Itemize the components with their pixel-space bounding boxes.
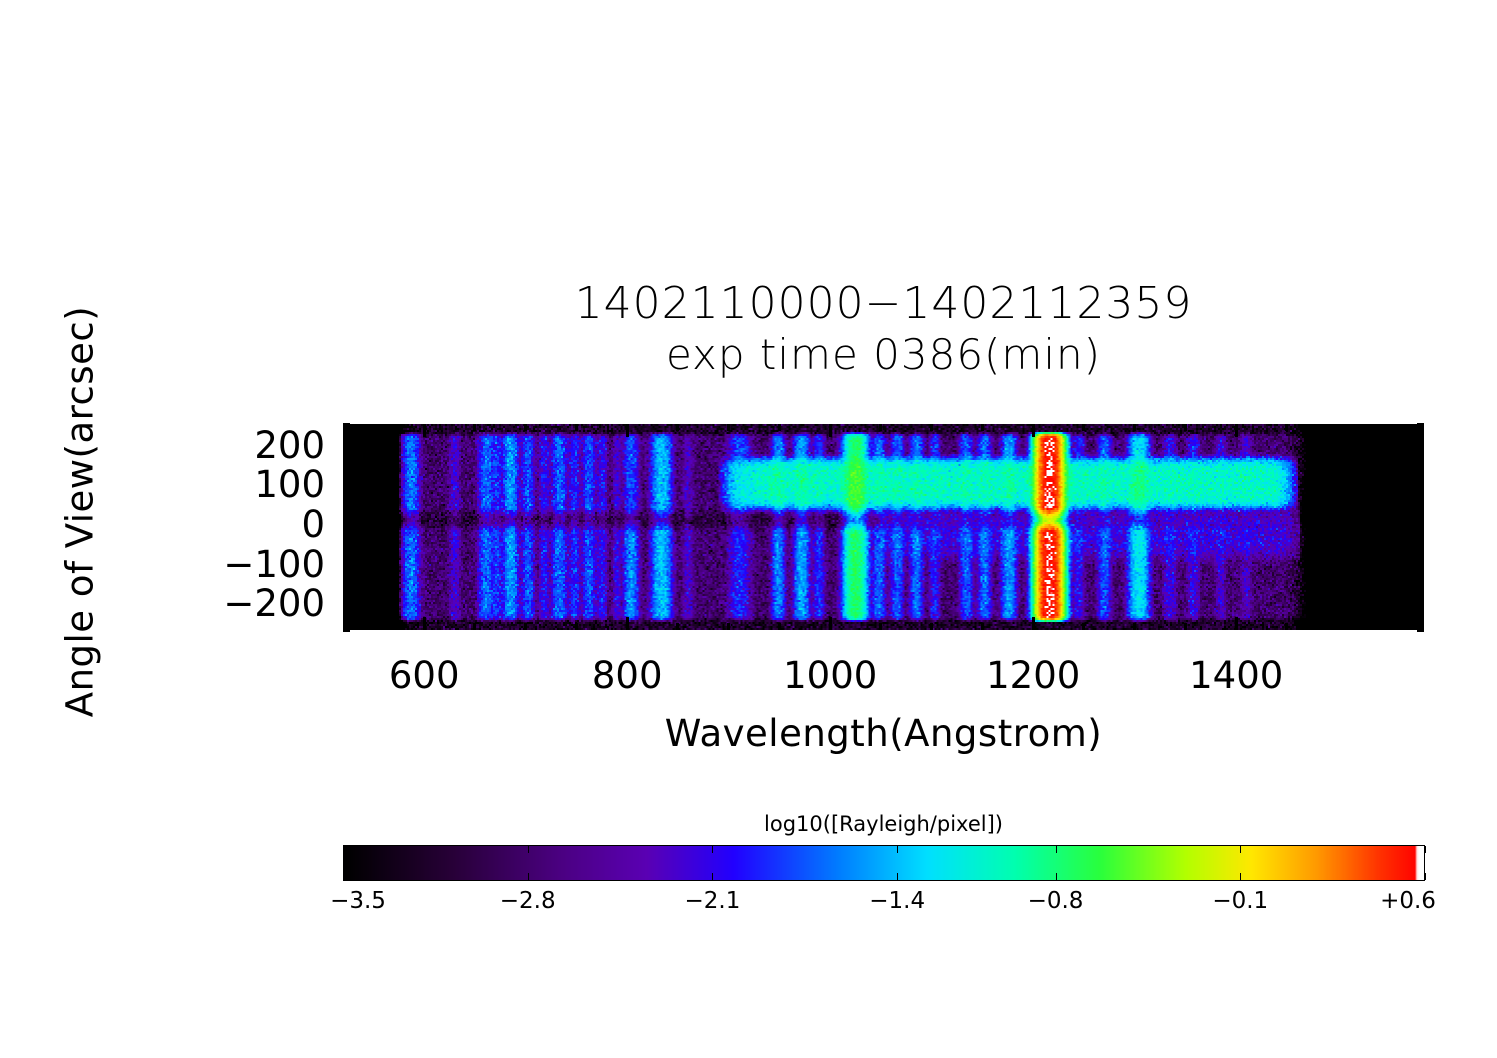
y-minor-tick-right — [1417, 597, 1424, 600]
x-minor-tick-top — [981, 424, 984, 431]
colorbar-tick — [1056, 846, 1057, 853]
x-minor-tick-top — [1336, 424, 1339, 431]
x-minor-tick-top — [575, 424, 578, 431]
spectrogram-image — [343, 424, 1424, 630]
colorbar-tick — [343, 873, 344, 880]
colorbar-tick — [1425, 846, 1426, 853]
x-tick-label: 600 — [344, 654, 504, 697]
y-minor-tick-right — [1417, 470, 1424, 473]
x-minor-tick — [1133, 623, 1136, 630]
x-tick-label: 1000 — [750, 654, 910, 697]
y-minor-tick — [343, 557, 350, 560]
y-minor-tick-right — [1417, 557, 1424, 560]
x-major-tick — [423, 617, 426, 630]
y-minor-tick-right — [1417, 613, 1424, 616]
y-minor-tick-right — [1417, 502, 1424, 505]
y-major-tick-right — [1411, 486, 1424, 489]
x-minor-tick — [1184, 623, 1187, 630]
y-major-tick — [343, 526, 356, 529]
colorbar-tick-label: −3.5 — [313, 888, 403, 914]
x-minor-tick — [372, 623, 375, 630]
y-minor-tick — [343, 438, 350, 441]
x-minor-tick-top — [930, 424, 933, 431]
x-minor-tick — [930, 623, 933, 630]
y-minor-tick-right — [1417, 621, 1424, 624]
colorbar-tick-label: −0.8 — [1011, 888, 1101, 914]
x-minor-tick-top — [1082, 424, 1085, 431]
x-tick-label: 1200 — [953, 654, 1113, 697]
x-minor-tick-top — [1184, 424, 1187, 431]
y-minor-tick-right — [1417, 454, 1424, 457]
colorbar-tick-label: −2.1 — [667, 888, 757, 914]
y-minor-tick — [343, 573, 350, 576]
x-minor-tick-top — [879, 424, 882, 431]
y-major-tick — [343, 565, 356, 568]
x-minor-tick — [524, 623, 527, 630]
colorbar-tick — [712, 873, 713, 880]
x-major-tick-top — [829, 424, 832, 437]
y-minor-tick — [343, 597, 350, 600]
figure-title: 1402110000−1402112359 exp time 0386(min) — [343, 278, 1424, 380]
x-major-tick-top — [1235, 424, 1238, 437]
y-major-tick — [343, 605, 356, 608]
y-minor-tick — [343, 478, 350, 481]
y-minor-tick — [343, 629, 350, 632]
y-minor-tick-right — [1417, 510, 1424, 513]
x-minor-tick — [1285, 623, 1288, 630]
x-tick-label: 800 — [547, 654, 707, 697]
colorbar-gradient — [344, 846, 1424, 880]
y-minor-tick — [343, 470, 350, 473]
y-minor-tick — [343, 510, 350, 513]
y-minor-tick — [343, 581, 350, 584]
x-major-tick-top — [626, 424, 629, 437]
x-minor-tick — [473, 623, 476, 630]
y-minor-tick — [343, 462, 350, 465]
colorbar-tick — [1056, 873, 1057, 880]
x-minor-tick — [676, 623, 679, 630]
x-minor-tick — [1387, 623, 1390, 630]
x-major-tick — [626, 617, 629, 630]
y-minor-tick-right — [1417, 462, 1424, 465]
figure-root: 1402110000−1402112359 exp time 0386(min)… — [0, 0, 1497, 1058]
y-minor-tick — [343, 613, 350, 616]
x-minor-tick — [727, 623, 730, 630]
colorbar-tick — [897, 873, 898, 880]
y-minor-tick — [343, 518, 350, 521]
y-major-tick — [343, 486, 356, 489]
title-exposure-time: exp time 0386(min) — [343, 330, 1424, 380]
colorbar-tick — [528, 846, 529, 853]
y-minor-tick-right — [1417, 549, 1424, 552]
x-minor-tick-top — [778, 424, 781, 431]
y-minor-tick — [343, 589, 350, 592]
x-minor-tick — [1082, 623, 1085, 630]
colorbar-tick — [528, 873, 529, 880]
x-major-tick — [829, 617, 832, 630]
y-tick-label: 100 — [195, 463, 325, 506]
y-major-tick-right — [1411, 446, 1424, 449]
x-minor-tick-top — [1285, 424, 1288, 431]
colorbar-tick — [712, 846, 713, 853]
y-tick-label: −200 — [195, 582, 325, 625]
colorbar-tick — [897, 846, 898, 853]
colorbar-tick-label: −2.8 — [483, 888, 573, 914]
x-minor-tick-top — [727, 424, 730, 431]
colorbar-title: log10([Rayleigh/pixel]) — [343, 812, 1424, 836]
x-minor-tick — [575, 623, 578, 630]
x-minor-tick — [879, 623, 882, 630]
y-minor-tick — [343, 541, 350, 544]
x-minor-tick-top — [1133, 424, 1136, 431]
x-major-tick — [1235, 617, 1238, 630]
x-minor-tick-top — [524, 424, 527, 431]
x-axis-title: Wavelength(Angstrom) — [343, 712, 1424, 755]
y-minor-tick — [343, 549, 350, 552]
colorbar-tick-label: −0.1 — [1195, 888, 1285, 914]
x-minor-tick — [1336, 623, 1339, 630]
y-major-tick — [343, 446, 356, 449]
x-minor-tick-top — [473, 424, 476, 431]
y-minor-tick — [343, 430, 350, 433]
y-minor-tick-right — [1417, 541, 1424, 544]
colorbar-tick-label: −1.4 — [852, 888, 942, 914]
colorbar-tick — [1240, 846, 1241, 853]
y-minor-tick-right — [1417, 533, 1424, 536]
y-major-tick-right — [1411, 565, 1424, 568]
x-major-tick — [1032, 617, 1035, 630]
x-minor-tick — [778, 623, 781, 630]
y-minor-tick — [343, 454, 350, 457]
y-minor-tick-right — [1417, 438, 1424, 441]
title-observation-id: 1402110000−1402112359 — [343, 278, 1424, 330]
y-tick-label: 200 — [195, 424, 325, 467]
y-minor-tick-right — [1417, 573, 1424, 576]
colorbar-tick — [1425, 873, 1426, 880]
x-minor-tick-top — [676, 424, 679, 431]
y-tick-label: −100 — [195, 543, 325, 586]
x-minor-tick-top — [372, 424, 375, 431]
y-minor-tick-right — [1417, 430, 1424, 433]
x-minor-tick-top — [1387, 424, 1390, 431]
colorbar-tick-label: +0.6 — [1363, 888, 1453, 914]
x-major-tick-top — [423, 424, 426, 437]
y-axis-title: Angle of View(arcsec) — [59, 302, 102, 722]
y-minor-tick-right — [1417, 518, 1424, 521]
y-minor-tick-right — [1417, 494, 1424, 497]
y-minor-tick — [343, 423, 350, 426]
y-minor-tick-right — [1417, 581, 1424, 584]
y-minor-tick — [343, 621, 350, 624]
y-minor-tick-right — [1417, 478, 1424, 481]
x-minor-tick — [981, 623, 984, 630]
colorbar-tick — [343, 846, 344, 853]
y-minor-tick-right — [1417, 629, 1424, 632]
y-minor-tick-right — [1417, 423, 1424, 426]
y-major-tick-right — [1411, 526, 1424, 529]
x-major-tick-top — [1032, 424, 1035, 437]
y-major-tick-right — [1411, 605, 1424, 608]
colorbar-tick — [1240, 873, 1241, 880]
y-tick-label: 0 — [195, 503, 325, 546]
y-minor-tick-right — [1417, 589, 1424, 592]
y-minor-tick — [343, 533, 350, 536]
x-tick-label: 1400 — [1156, 654, 1316, 697]
spectrogram-plot-area — [343, 424, 1424, 630]
y-minor-tick — [343, 502, 350, 505]
colorbar — [343, 845, 1425, 881]
y-minor-tick — [343, 494, 350, 497]
